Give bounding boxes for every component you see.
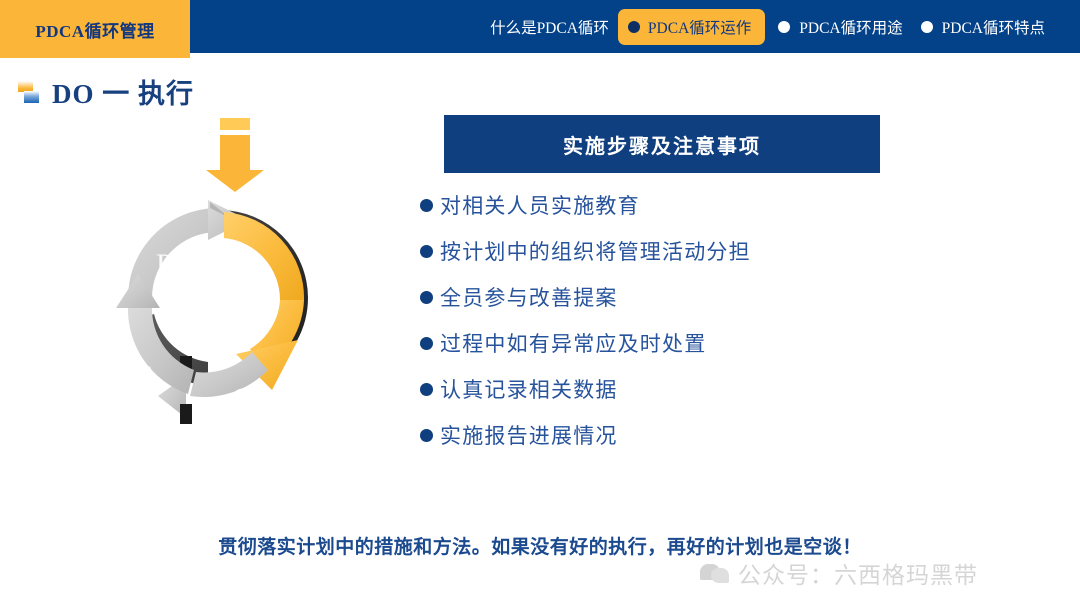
- panel-header: 实施步骤及注意事项: [444, 115, 880, 173]
- list-item-label: 按计划中的组织将管理活动分担: [440, 236, 751, 266]
- nav-item-label: PDCA循环特点: [942, 16, 1045, 38]
- list-item-label: 实施报告进展情况: [440, 420, 618, 450]
- pdca-segment-d: D: [224, 212, 304, 390]
- bullet-dot-icon: [420, 291, 433, 304]
- list-item: 认真记录相关数据: [420, 366, 940, 412]
- white-dot-icon: [778, 21, 790, 33]
- nav-item-label: PDCA循环用途: [799, 16, 902, 38]
- nav-item-pdca-features[interactable]: PDCA循环特点: [910, 16, 1052, 38]
- brand-title: PDCA循环管理: [35, 17, 154, 42]
- list-item-label: 认真记录相关数据: [440, 374, 618, 404]
- down-arrow-icon: [206, 118, 264, 192]
- bullet-dot-icon: [420, 383, 433, 396]
- steps-list: 对相关人员实施教育 按计划中的组织将管理活动分担 全员参与改善提案 过程中如有异…: [420, 182, 940, 458]
- nav-item-label: PDCA循环运作: [648, 16, 751, 38]
- chat-bubble-icon: [700, 561, 730, 585]
- list-item: 过程中如有异常应及时处置: [420, 320, 940, 366]
- footer-note: 贯彻落实计划中的措施和方法。如果没有好的执行，再好的计划也是空谈！: [0, 532, 1080, 559]
- list-item-label: 对相关人员实施教育: [440, 190, 640, 220]
- list-item-label: 过程中如有异常应及时处置: [440, 328, 706, 358]
- bullet-dot-icon: [420, 245, 433, 258]
- bullet-dot-icon: [420, 199, 433, 212]
- list-item: 实施报告进展情况: [420, 412, 940, 458]
- nav-item-label: 什么是PDCA循环: [490, 16, 609, 38]
- white-dot-icon: [921, 21, 933, 33]
- list-item: 全员参与改善提案: [420, 274, 940, 320]
- pdca-cycle-diagram: D C A P: [58, 108, 378, 468]
- watermark-label: 公众号：六西格玛黑带: [738, 556, 978, 590]
- pdca-label-a: A: [138, 360, 160, 393]
- list-item: 按计划中的组织将管理活动分担: [420, 228, 940, 274]
- pdca-label-d: D: [248, 268, 270, 301]
- nav-item-pdca-operation[interactable]: PDCA循环运作: [618, 9, 765, 45]
- dark-dot-icon: [628, 21, 640, 33]
- panel-title: 实施步骤及注意事项: [563, 130, 761, 159]
- pdca-segment-a: A: [116, 274, 194, 394]
- bullet-dot-icon: [420, 337, 433, 350]
- list-item-label: 全员参与改善提案: [440, 282, 618, 312]
- nav-item-what-is-pdca[interactable]: 什么是PDCA循环: [483, 16, 616, 38]
- list-item: 对相关人员实施教育: [420, 182, 940, 228]
- brand-tab[interactable]: PDCA循环管理: [0, 0, 190, 58]
- section-title-label: DO 一 执行: [52, 72, 194, 111]
- section-title: DO 一 执行: [16, 72, 194, 111]
- watermark: 公众号：六西格玛黑带: [700, 556, 978, 590]
- bullet-dot-icon: [420, 429, 433, 442]
- pdca-label-c: C: [232, 382, 252, 415]
- pdca-label-p: P: [156, 248, 173, 281]
- two-squares-icon: [16, 80, 42, 104]
- nav-item-pdca-usage[interactable]: PDCA循环用途: [767, 16, 909, 38]
- top-navigation: 什么是PDCA循环 PDCA循环运作 PDCA循环用途 PDCA循环特点: [483, 0, 1052, 53]
